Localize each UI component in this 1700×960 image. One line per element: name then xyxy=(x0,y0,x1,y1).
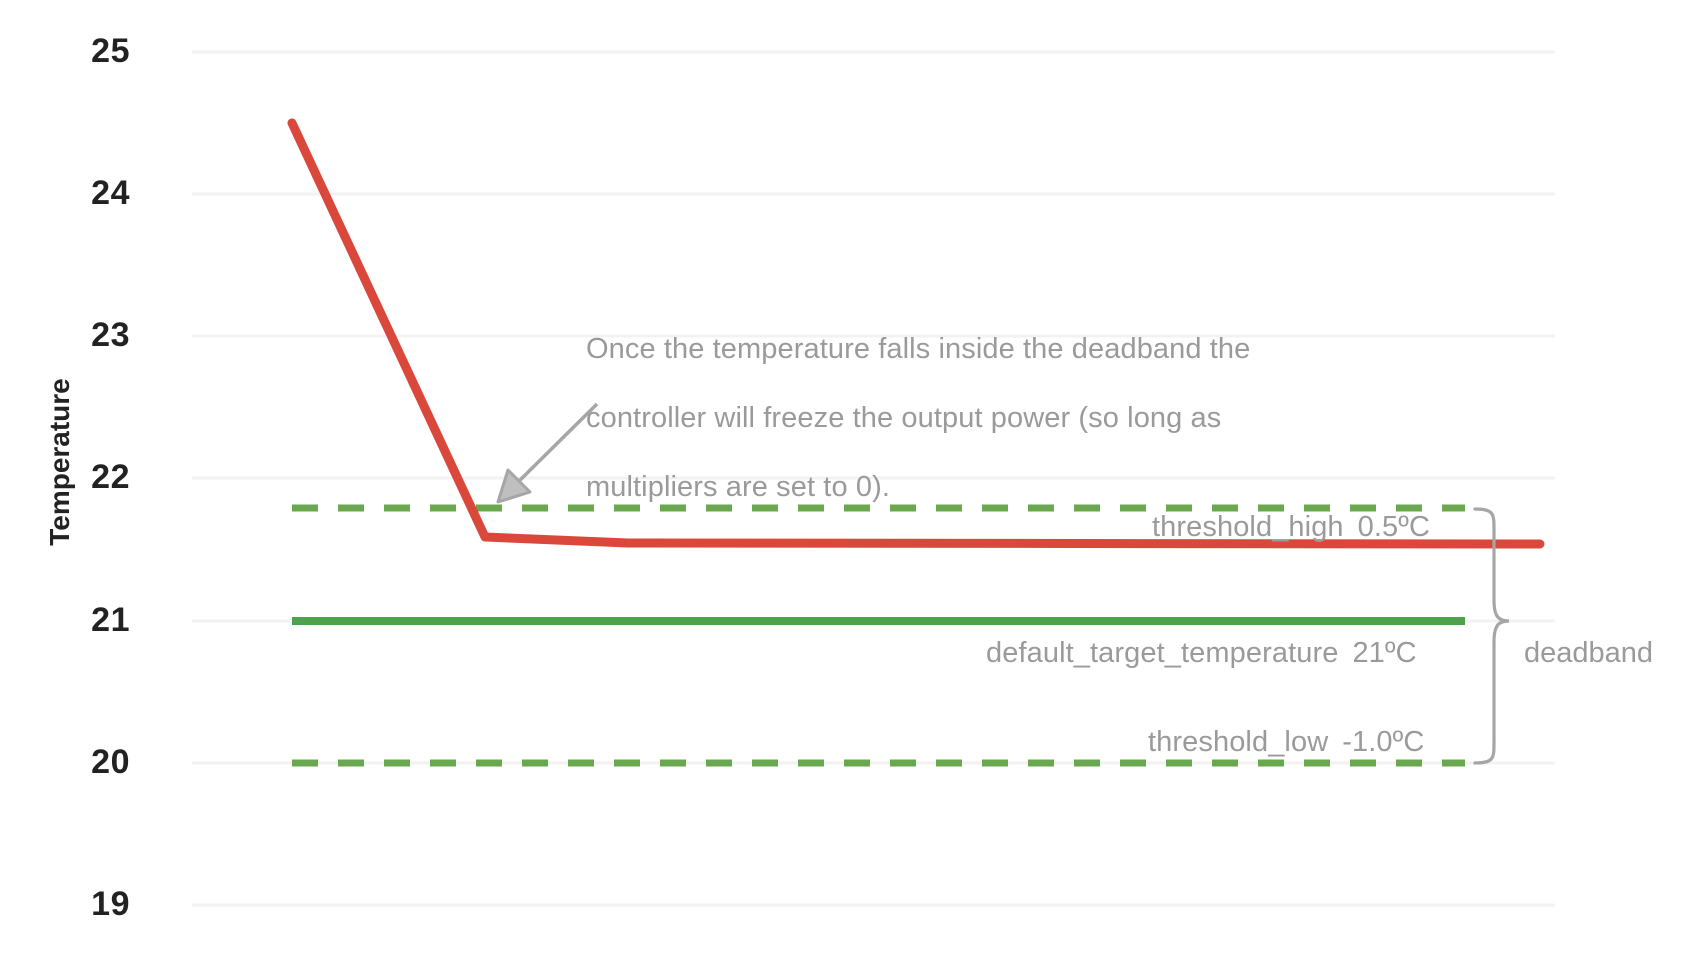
y-tick-21: 21 xyxy=(50,603,130,637)
annotation-note: Once the temperature falls inside the de… xyxy=(586,297,1326,539)
annotation-note-line-2: controller will freeze the output power … xyxy=(586,401,1326,436)
threshold-low-label-name: threshold_low xyxy=(1148,726,1328,758)
y-tick-25: 25 xyxy=(50,34,130,68)
target-temperature-label: default_target_temperature21ºC xyxy=(986,637,1417,670)
chart-container: Temperature 25 24 23 22 21 20 19 Once th… xyxy=(0,0,1700,960)
target-temperature-label-value: 21ºC xyxy=(1352,637,1416,669)
threshold-high-label-name: threshold_high xyxy=(1152,511,1344,543)
threshold-high-label-value: 0.5ºC xyxy=(1358,511,1430,543)
annotation-arrow xyxy=(498,404,597,502)
target-temperature-label-name: default_target_temperature xyxy=(986,637,1338,669)
y-tick-20: 20 xyxy=(50,745,130,779)
annotation-note-line-1: Once the temperature falls inside the de… xyxy=(586,332,1326,367)
y-tick-22: 22 xyxy=(50,460,130,494)
y-tick-24: 24 xyxy=(50,176,130,210)
threshold-low-label-value: -1.0ºC xyxy=(1342,726,1424,758)
threshold-low-label: threshold_low-1.0ºC xyxy=(1148,726,1424,759)
y-tick-19: 19 xyxy=(50,887,130,921)
threshold-high-label: threshold_high0.5ºC xyxy=(1152,511,1430,544)
y-tick-23: 23 xyxy=(50,318,130,352)
annotation-note-line-3: multipliers are set to 0). xyxy=(586,470,1326,505)
deadband-label: deadband xyxy=(1524,637,1653,670)
